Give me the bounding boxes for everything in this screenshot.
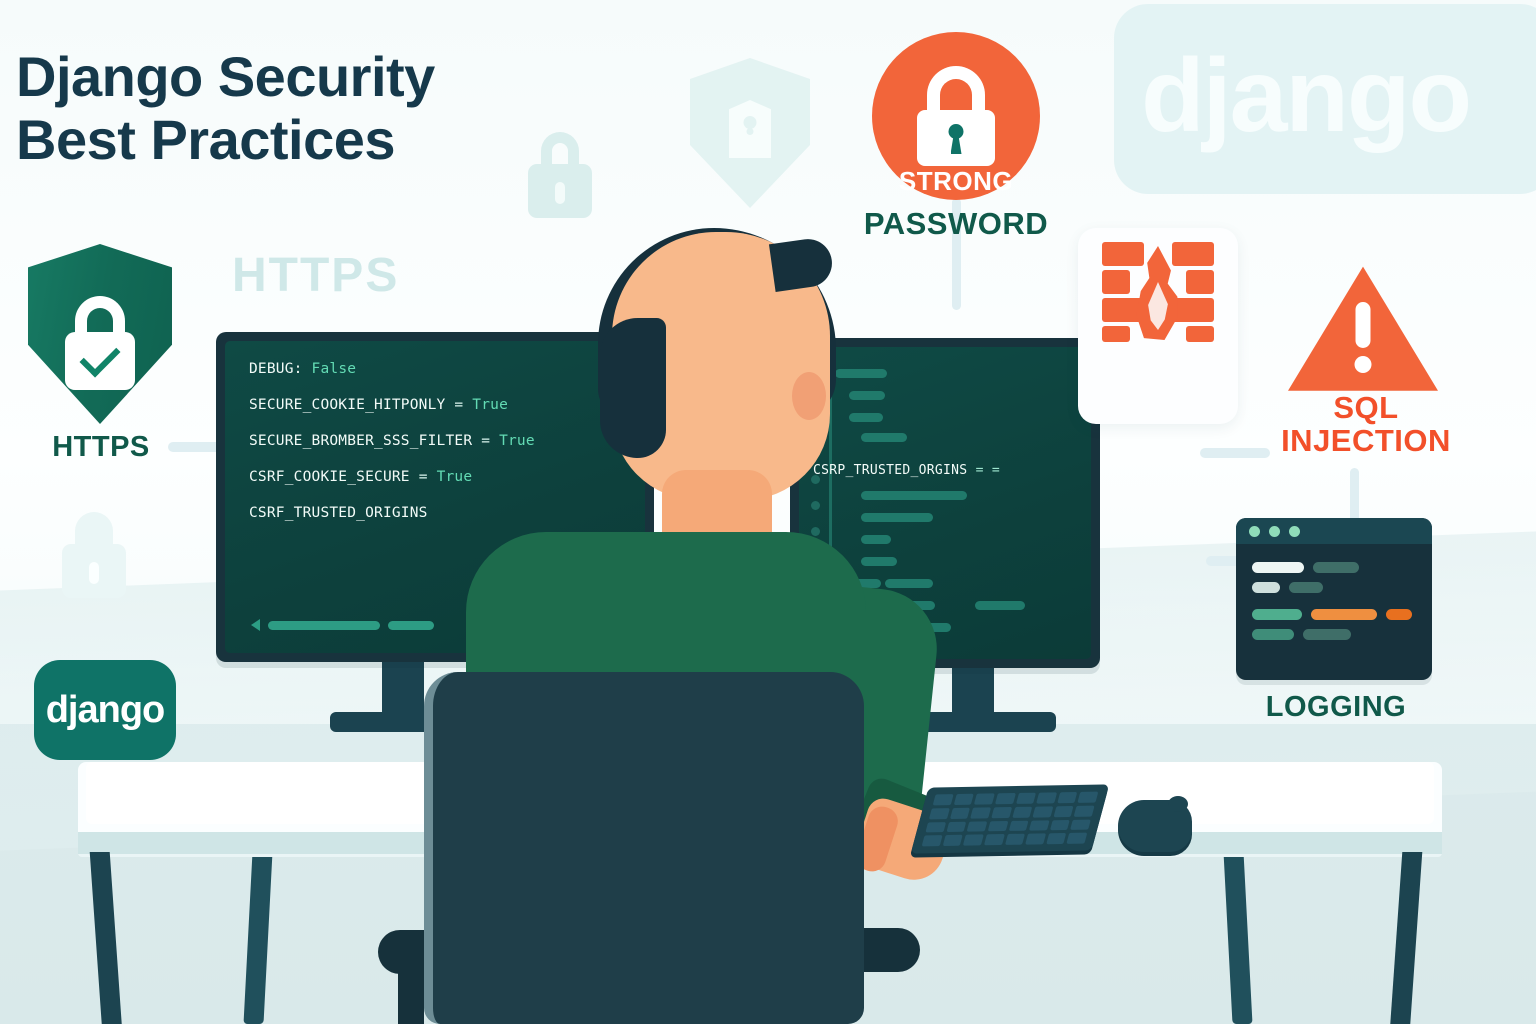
window-dot-icon [1249, 526, 1260, 537]
illustration-canvas: django HTTPS Django Security Best Practi… [0, 0, 1536, 1024]
https-watermark-text: HTTPS [232, 248, 399, 303]
keyboard-key [1057, 792, 1078, 803]
keyboard-key [1005, 834, 1026, 845]
keyboard-key [1036, 792, 1057, 803]
keyboard-key [946, 821, 967, 832]
chair-post [398, 964, 424, 1024]
code-key: CSRF_TRUSTED_ORIGINS [249, 505, 428, 521]
keyboard-key [991, 807, 1012, 818]
monitor-stand-base [908, 712, 1056, 732]
keyboard-key [1016, 793, 1037, 804]
keyboard-key [970, 807, 991, 818]
code-line: SECURE_COOKIE_HITPONLY = True [249, 397, 629, 413]
keyboard-key [974, 793, 995, 804]
django-logo: django [34, 660, 176, 760]
keyboard-key [1046, 833, 1067, 844]
code-value: True [472, 397, 508, 413]
scroll-indicator[interactable] [251, 619, 434, 631]
connector-logging [1350, 468, 1359, 522]
keyboard-key [953, 794, 974, 805]
terminal-titlebar [1236, 518, 1432, 544]
code-value: True [499, 433, 535, 449]
code-placeholder-bar [835, 369, 887, 378]
mouse[interactable] [1118, 800, 1192, 852]
connector-sql [1200, 448, 1270, 458]
keyboard-key [967, 821, 988, 832]
code-line: CSRF_TRUSTED_ORIGINS [249, 505, 629, 521]
window-dot-icon [1289, 526, 1300, 537]
code-placeholder-bar [861, 433, 907, 442]
padlock-icon [62, 512, 126, 598]
code-line: CSRF_COOKIE_SECURE = True [249, 469, 629, 485]
line-number-dot [811, 501, 820, 510]
code-value: False [312, 361, 357, 377]
keyboard-key [933, 794, 954, 805]
keyboard-key [1074, 805, 1095, 816]
badge-label-strong: STRONG [872, 168, 1040, 196]
django-logo-text: django [46, 689, 165, 732]
hair-side [600, 318, 666, 458]
keyboard-key [1012, 806, 1033, 817]
code-placeholder-bar [849, 391, 885, 400]
keyboard-key [1029, 820, 1050, 831]
code-placeholder-bar [975, 601, 1025, 610]
firewall-flame-icon [1102, 242, 1214, 342]
code-key: DEBUG: [249, 361, 303, 377]
keyboard-key [929, 808, 950, 819]
terminal-log-rows [1236, 544, 1432, 667]
code-operator: = [419, 469, 428, 485]
code-placeholder-bar [849, 413, 883, 422]
badge-label-password: PASSWORD [856, 208, 1056, 241]
keyboard-key [987, 821, 1008, 832]
keyboard[interactable] [911, 784, 1110, 853]
code-placeholder-bar [885, 579, 933, 588]
page-title: Django Security Best Practices [16, 46, 435, 171]
keyboard-key [925, 822, 946, 833]
csp-headers-card: CSP HEADERS [1078, 228, 1238, 424]
keyboard-key [995, 793, 1016, 804]
keyboard-key [922, 835, 943, 846]
code-key: SECURE_COOKIE_HITPONLY [249, 397, 445, 413]
code-placeholder-bar [909, 491, 967, 500]
keyboard-key [984, 834, 1005, 845]
keyboard-key [1033, 806, 1054, 817]
line-number-dot [811, 527, 820, 536]
code-line: DEBUG: False [249, 361, 629, 377]
badge-label-logging: LOGGING [1248, 692, 1424, 723]
terminal-window-icon [1236, 518, 1432, 680]
badge-label-https: HTTPS [26, 432, 176, 463]
keyboard-key [942, 835, 963, 846]
right-monitor-code-line: CSRP_TRUSTED_ORGINS = = [813, 463, 1000, 478]
chevron-left-icon[interactable] [251, 619, 260, 631]
code-value: True [437, 469, 473, 485]
code-placeholder-bar [861, 535, 891, 544]
django-watermark-text: django [1141, 44, 1470, 148]
ear [792, 372, 826, 420]
code-placeholder-bar [861, 557, 897, 566]
office-chair [424, 672, 864, 1024]
keyboard-key [1050, 819, 1071, 830]
code-operator: = [481, 433, 490, 449]
keyboard-key [1078, 792, 1099, 803]
keyboard-key [1053, 806, 1074, 817]
code-placeholder-bar [861, 513, 933, 522]
window-dot-icon [1269, 526, 1280, 537]
code-line: SECURE_BROMBER_SSS_FILTER = True [249, 433, 629, 449]
code-key: SECURE_BROMBER_SSS_FILTER [249, 433, 472, 449]
badge-label-sql: SQL INJECTION [1266, 392, 1466, 458]
padlock-icon [528, 132, 592, 218]
code-key: CSRF_COOKIE_SECURE [249, 469, 410, 485]
keyboard-key [1025, 834, 1046, 845]
keyboard-key [1008, 820, 1029, 831]
code-operator: = [454, 397, 463, 413]
keyboard-key [1070, 819, 1091, 830]
keyboard-key [963, 835, 984, 846]
keyboard-key [1067, 833, 1088, 844]
keyboard-key [950, 807, 971, 818]
